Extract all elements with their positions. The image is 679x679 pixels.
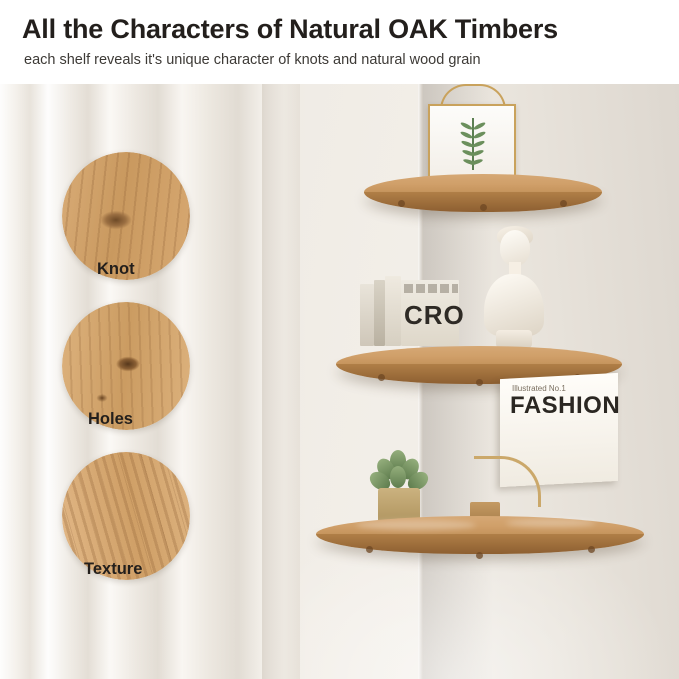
curtain-edge-shadow	[262, 84, 306, 679]
book-3	[385, 276, 401, 346]
shelf-bottom	[316, 516, 644, 570]
product-photo: CRO Illustrated No.1 FASHION	[0, 84, 679, 679]
bust-sculpture	[482, 230, 546, 352]
wood-sample-holes-label: Holes	[88, 410, 133, 429]
book-2	[374, 280, 385, 346]
shelf-bottom-edge	[316, 534, 644, 554]
shelf-top	[364, 174, 602, 220]
wood-sample-texture-label: Texture	[84, 560, 142, 579]
fern-print-icon	[462, 118, 484, 170]
book-cro-title: CRO	[404, 302, 458, 328]
page-subtitle: each shelf reveals it's unique character…	[24, 52, 481, 68]
book-cro-stripe	[404, 284, 458, 293]
product-infographic: All the Characters of Natural OAK Timber…	[0, 0, 679, 679]
page-title: All the Characters of Natural OAK Timber…	[22, 14, 558, 45]
header-banner: All the Characters of Natural OAK Timber…	[0, 0, 679, 84]
wood-sample-knot-label: Knot	[97, 260, 135, 279]
magazine-title: FASHION	[510, 392, 620, 420]
book-1	[360, 284, 374, 346]
